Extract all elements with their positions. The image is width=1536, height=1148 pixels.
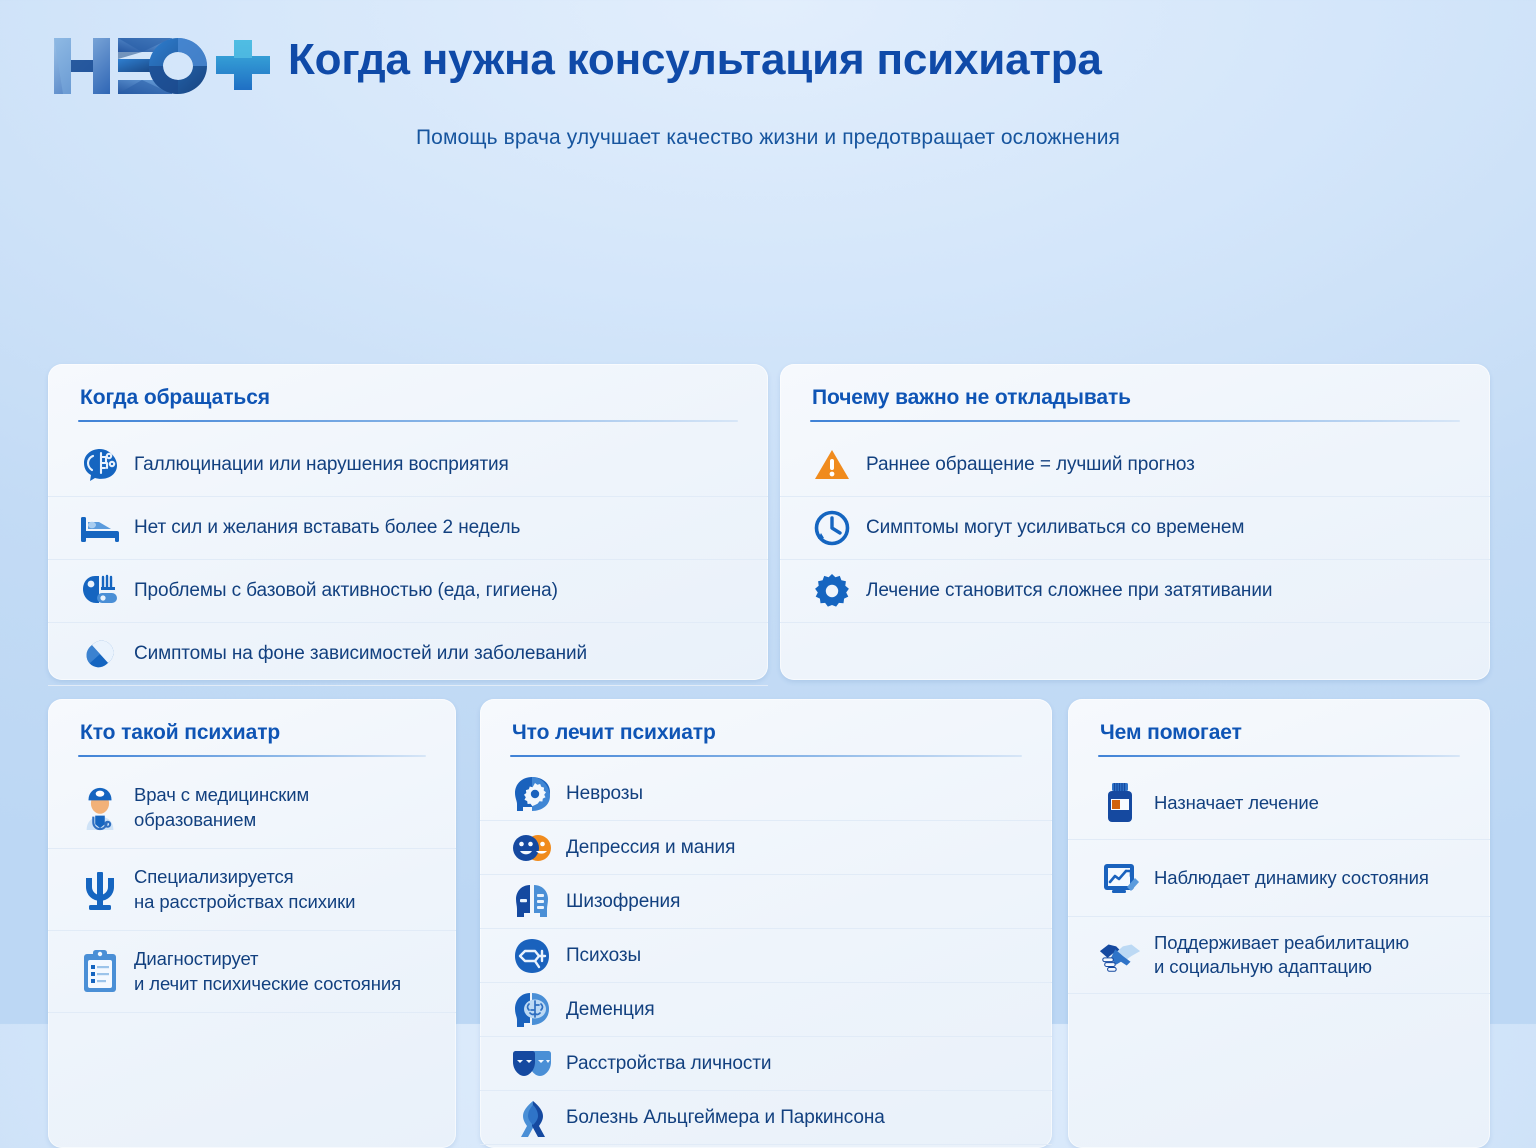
list-item[interactable]: Назначает лечение: [1068, 767, 1490, 840]
card-why-not-delay: Почему важно не откладывать Раннее обращ…: [780, 364, 1490, 680]
card-title: Почему важно не откладывать: [812, 386, 1490, 410]
list-item-label: Неврозы: [566, 782, 643, 806]
card-list: Галлюцинации или нарушения восприятия Не…: [48, 434, 768, 686]
page-subtitle: Помощь врача улучшает качество жизни и п…: [0, 126, 1536, 150]
list-item-label: Нет сил и желания вставать более 2 недел…: [134, 516, 520, 540]
medicine-bottle-icon: [1098, 781, 1142, 825]
card-title: Когда обращаться: [80, 386, 768, 410]
head-gear-icon: [510, 772, 554, 816]
card-divider: [78, 420, 738, 422]
list-item-label: Диагностируети лечит психические состоян…: [134, 947, 401, 995]
list-item-label: Поддерживает реабилитациюи социальную ад…: [1154, 931, 1409, 979]
list-item[interactable]: Лечение становится сложнее при затятиван…: [780, 560, 1490, 623]
page-title: Когда нужна консультация психиатра: [288, 36, 1102, 84]
list-item-label: Проблемы с базовой активностью (еда, гиг…: [134, 579, 558, 603]
bed-icon: [78, 506, 122, 550]
awareness-ribbon-icon: [510, 1096, 554, 1140]
list-item-label: Расстройства личности: [566, 1052, 771, 1076]
list-item-label: Наблюдает динамику состояния: [1154, 866, 1429, 890]
list-item[interactable]: Нет сил и желания вставать более 2 недел…: [48, 497, 768, 560]
list-item[interactable]: Симптомы могут усиливаться со временем: [780, 497, 1490, 560]
clipboard-icon: [78, 950, 122, 994]
list-item[interactable]: Галлюцинации или нарушения восприятия: [48, 434, 768, 497]
brain-icon: [78, 443, 122, 487]
card-divider: [810, 420, 1460, 422]
pill-icon: [78, 632, 122, 676]
list-item-label: Симптомы на фоне зависимостей или заболе…: [134, 642, 587, 666]
list-item[interactable]: Раннее обращение = лучший прогноз: [780, 434, 1490, 497]
warning-triangle-icon: [810, 443, 854, 487]
list-item[interactable]: Проблемы с базовой активностью (еда, гиг…: [48, 560, 768, 623]
list-item[interactable]: Болезнь Альцгеймера и Паркинсона: [480, 1091, 1052, 1145]
psychosis-head-icon: [510, 934, 554, 978]
list-item[interactable]: Симптомы на фоне зависимостей или заболе…: [48, 623, 768, 686]
list-item-label: Депрессия и мания: [566, 836, 735, 860]
card-title: Кто такой психиатр: [80, 721, 456, 745]
card-divider: [510, 755, 1022, 757]
list-item[interactable]: Психозы: [480, 929, 1052, 983]
list-item-label: Деменция: [566, 998, 655, 1022]
psi-symbol-icon: [78, 868, 122, 912]
self-care-icon: [78, 569, 122, 613]
list-item[interactable]: Наблюдает динамику состояния: [1068, 840, 1490, 917]
list-item[interactable]: Депрессия и мания: [480, 821, 1052, 875]
card-list: Раннее обращение = лучший прогноз Симпто…: [780, 434, 1490, 623]
neo-plus-logo: [48, 30, 276, 102]
card-how-helps: Чем помогает Назначает лечение Наблюдает…: [1068, 699, 1490, 1148]
list-item[interactable]: Поддерживает реабилитациюи социальную ад…: [1068, 917, 1490, 994]
list-item-label: Назначает лечение: [1154, 791, 1319, 815]
card-title: Что лечит психиатр: [512, 721, 1052, 745]
card-title: Чем помогает: [1100, 721, 1490, 745]
clock-icon: [810, 506, 854, 550]
list-item-label: Лечение становится сложнее при затятиван…: [866, 579, 1272, 603]
card-divider: [78, 755, 426, 757]
split-head-icon: [510, 880, 554, 924]
list-item-label: Галлюцинации или нарушения восприятия: [134, 453, 509, 477]
page-header: Когда нужна консультация психиатра Помощ…: [0, 0, 1536, 172]
card-list: Неврозы Депрессия и мания Шизофрения Пси…: [480, 767, 1052, 1145]
handshake-icon: [1098, 933, 1142, 977]
card-when-to-see: Когда обращаться Галлюцинации или наруше…: [48, 364, 768, 680]
list-item-label: Раннее обращение = лучший прогноз: [866, 453, 1195, 477]
list-item[interactable]: Деменция: [480, 983, 1052, 1037]
card-list: Врач с медицинскимобразованием Специализ…: [48, 767, 456, 1013]
card-divider: [1098, 755, 1460, 757]
list-item-label: Болезнь Альцгеймера и Паркинсона: [566, 1106, 885, 1130]
list-item-label: Шизофрения: [566, 890, 680, 914]
list-item[interactable]: Специализируетсяна расстройствах психики: [48, 849, 456, 931]
list-item[interactable]: Диагностируети лечит психические состоян…: [48, 931, 456, 1013]
card-what-treats: Что лечит психиатр Неврозы Депрессия и м…: [480, 699, 1052, 1148]
card-list: Назначает лечение Наблюдает динамику сос…: [1068, 767, 1490, 994]
list-item-label: Специализируетсяна расстройствах психики: [134, 865, 355, 913]
list-item-label: Психозы: [566, 944, 641, 968]
theatre-masks-icon: [510, 1042, 554, 1086]
list-item[interactable]: Шизофрения: [480, 875, 1052, 929]
list-item[interactable]: Расстройства личности: [480, 1037, 1052, 1091]
list-item[interactable]: Неврозы: [480, 767, 1052, 821]
list-item-label: Симптомы могут усиливаться со временем: [866, 516, 1244, 540]
list-item-label: Врач с медицинскимобразованием: [134, 783, 309, 831]
list-item[interactable]: Врач с медицинскимобразованием: [48, 767, 456, 849]
two-masks-faces-icon: [510, 826, 554, 870]
card-who-is-psychiatrist: Кто такой психиатр Врач с медицинскимобр…: [48, 699, 456, 1148]
chart-monitor-icon: [1098, 856, 1142, 900]
dementia-brain-icon: [510, 988, 554, 1032]
doctor-icon: [78, 786, 122, 830]
gear-icon: [810, 569, 854, 613]
